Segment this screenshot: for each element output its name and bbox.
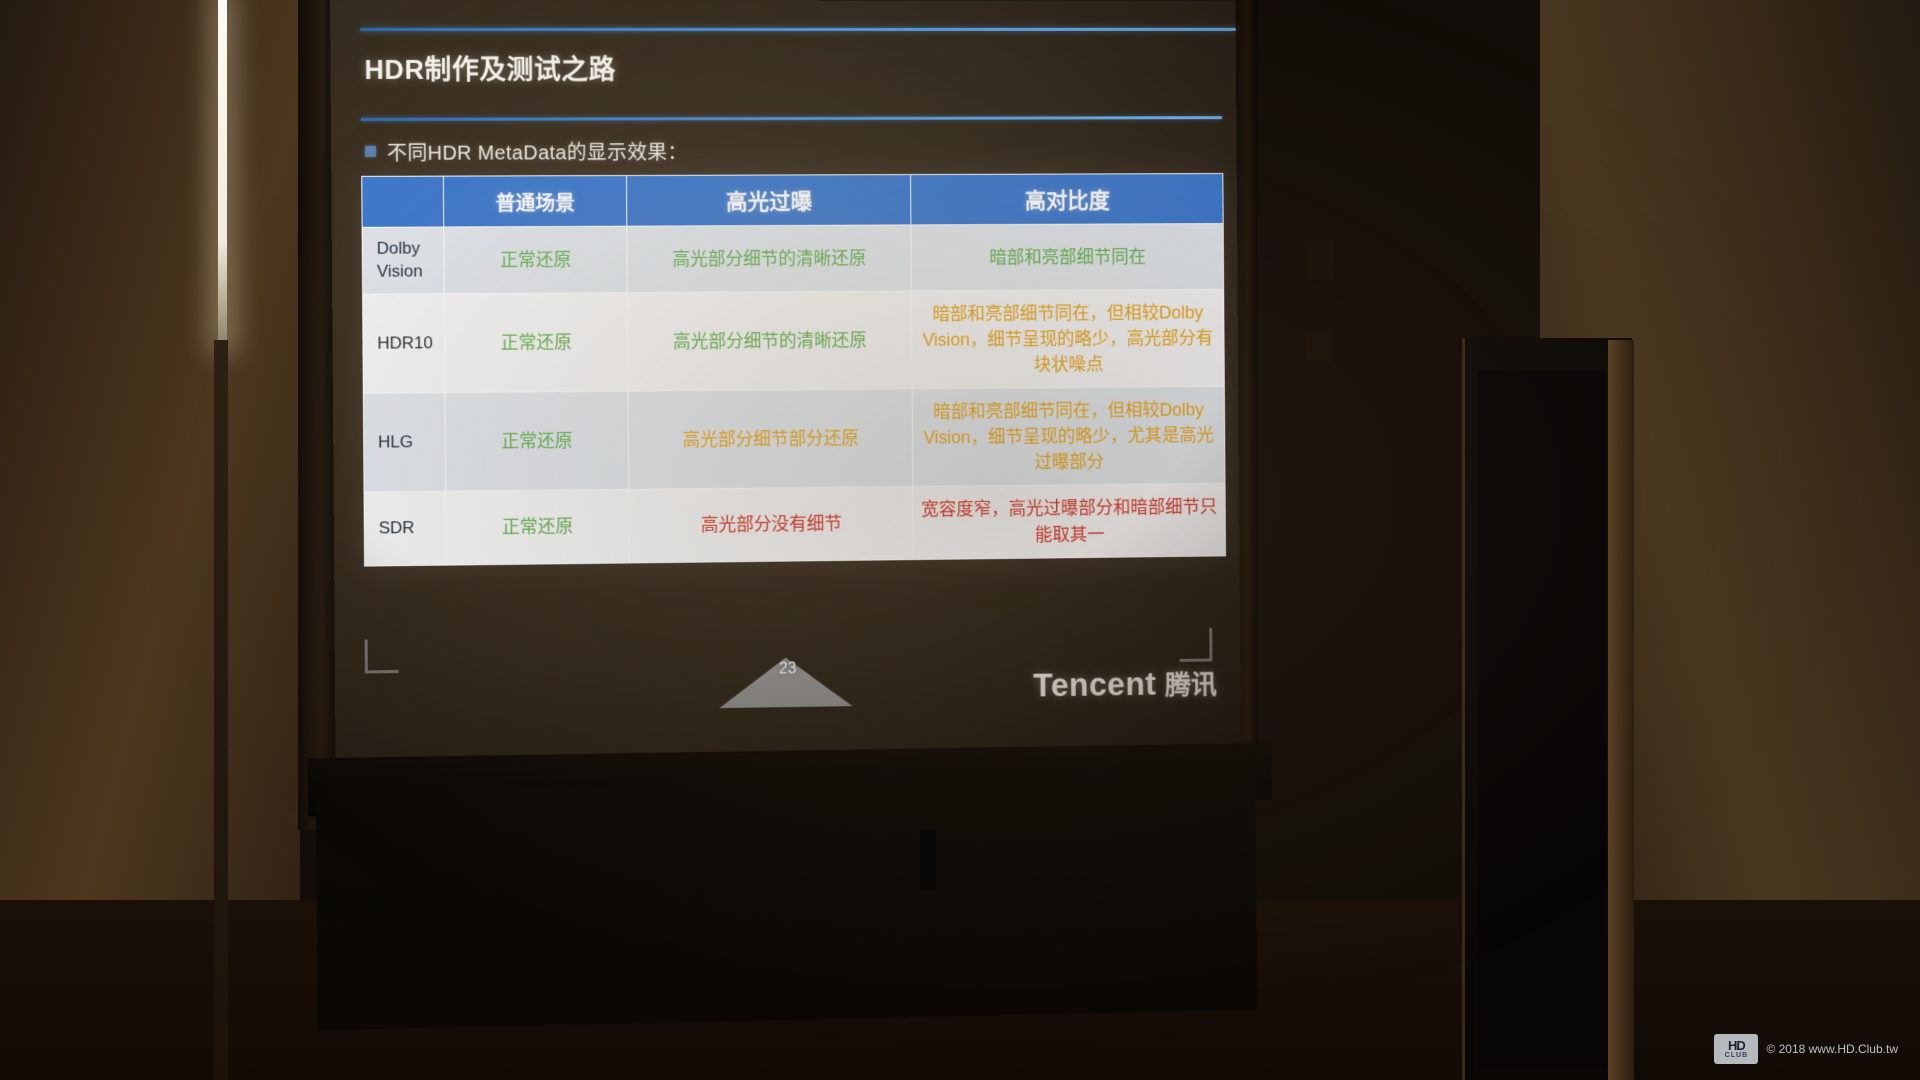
title-underline-rule xyxy=(361,116,1222,120)
corner-mark-left xyxy=(365,639,399,673)
screen-bracket-mid xyxy=(1306,330,1332,364)
doorway-edge xyxy=(1608,340,1634,1080)
tencent-logo-cn: 腾讯 xyxy=(1165,663,1217,702)
table-cell: 正常还原 xyxy=(444,293,628,393)
table-cell: 暗部和亮部细节同在，但相较Dolby Vision，细节呈现的略少，高光部分有块… xyxy=(911,289,1224,389)
watermark: HD CLUB © 2018 www.HD.Club.tw xyxy=(1714,1034,1898,1064)
screen-bracket-top xyxy=(1308,240,1334,280)
projection-screen: HDR制作及测试之路 不同HDR MetaData的显示效果： 普通场景 高光过… xyxy=(330,0,1241,760)
table-cell: 暗部和亮部细节同在 xyxy=(911,224,1224,291)
bullet-row: 不同HDR MetaData的显示效果： xyxy=(365,136,688,166)
table-corner-header xyxy=(362,176,444,227)
column-header-0: 普通场景 xyxy=(443,176,626,227)
table-cell: 高光部分细节部分还原 xyxy=(628,389,913,490)
watermark-badge: HD CLUB xyxy=(1714,1034,1758,1064)
table-cell: 高光部分细节的清晰还原 xyxy=(627,225,912,293)
column-header-1: 高光过曝 xyxy=(626,175,910,227)
table-row: Dolby Vision正常还原高光部分细节的清晰还原暗部和亮部细节同在 xyxy=(362,224,1224,295)
table-row: HLG正常还原高光部分细节部分还原暗部和亮部细节同在，但相较Dolby Visi… xyxy=(363,386,1225,492)
table-cell: 高光部分没有细节 xyxy=(629,487,914,563)
table-row: SDR正常还原高光部分没有细节宽容度窄，高光过曝部分和暗部细节只能取其一 xyxy=(364,484,1226,566)
table-cell: 正常还原 xyxy=(445,391,629,491)
watermark-text: © 2018 www.HD.Club.tw xyxy=(1766,1042,1898,1056)
table-cell: 高光部分细节的清晰还原 xyxy=(627,291,912,391)
table-cell: 正常还原 xyxy=(444,226,628,294)
row-label: HLG xyxy=(363,393,445,493)
page-number: 23 xyxy=(758,660,817,679)
table-header-row: 普通场景 高光过曝 高对比度 xyxy=(362,174,1223,228)
comparison-table: 普通场景 高光过曝 高对比度 Dolby Vision正常还原高光部分细节的清晰… xyxy=(361,173,1226,566)
square-bullet-icon xyxy=(365,146,376,157)
row-label: HDR10 xyxy=(363,294,445,394)
tencent-logo-en: Tencent xyxy=(1033,665,1156,704)
floor-cable xyxy=(920,830,936,890)
slide-title: HDR制作及测试之路 xyxy=(364,48,616,87)
strip-light-lower xyxy=(214,340,228,1080)
strip-light xyxy=(218,0,227,346)
table-cell: 宽容度窄，高光过曝部分和暗部细节只能取其一 xyxy=(913,484,1226,559)
top-accent-rule xyxy=(360,28,1236,31)
row-label: Dolby Vision xyxy=(362,227,444,294)
table-cell: 暗部和亮部细节同在，但相较Dolby Vision，细节呈现的略少，尤其是高光过… xyxy=(912,386,1225,487)
column-header-2: 高对比度 xyxy=(911,174,1224,225)
table-row: HDR10正常还原高光部分细节的清晰还原暗部和亮部细节同在，但相较Dolby V… xyxy=(363,289,1225,393)
screenshot-root: HDR制作及测试之路 不同HDR MetaData的显示效果： 普通场景 高光过… xyxy=(0,0,1920,1080)
table-cell: 正常还原 xyxy=(446,490,630,565)
watermark-badge-top: HD xyxy=(1728,1039,1745,1052)
row-label: SDR xyxy=(364,492,446,566)
tencent-logo: Tencent 腾讯 xyxy=(1033,663,1217,704)
doorway-inner xyxy=(1478,370,1606,1070)
table-body: Dolby Vision正常还原高光部分细节的清晰还原暗部和亮部细节同在HDR1… xyxy=(362,224,1225,566)
corner-mark-right xyxy=(1179,628,1212,662)
screen-skirt xyxy=(316,774,1257,1030)
watermark-badge-bottom: CLUB xyxy=(1725,1052,1748,1059)
presentation-slide: HDR制作及测试之路 不同HDR MetaData的显示效果： 普通场景 高光过… xyxy=(330,0,1241,760)
bullet-text: 不同HDR MetaData的显示效果： xyxy=(387,136,688,166)
